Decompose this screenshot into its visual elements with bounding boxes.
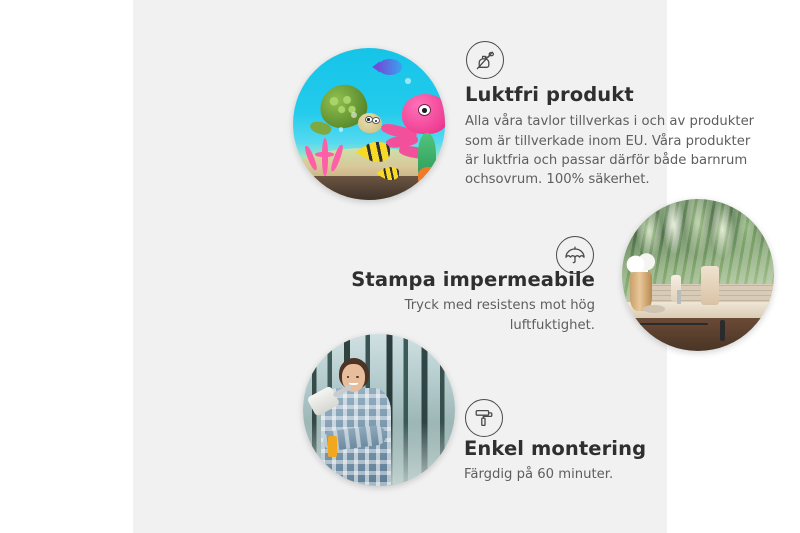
yellow-fish: [363, 142, 390, 162]
feature-block-waterproof: Stampa impermeabile Tryck med resistens …: [333, 268, 595, 335]
painter-scene-art: [303, 334, 455, 486]
feature-body-odour-free: Alla våra tavlor tillverkas i och av pro…: [465, 112, 765, 189]
soap-dish: [643, 305, 664, 313]
faucet: [677, 290, 682, 304]
bathroom-scene-art: [622, 199, 774, 351]
tool-handle: [328, 436, 337, 457]
feature-block-easy-mounting: Enkel montering Färgdig på 60 minuter.: [464, 437, 744, 485]
product-feature-infographic: Luktfri produkt Alla våra tavlor tillver…: [0, 0, 800, 533]
no-fragrance-icon: [466, 41, 504, 79]
feature-block-odour-free: Luktfri produkt Alla våra tavlor tillver…: [465, 83, 765, 189]
blue-fish: [378, 59, 402, 76]
underwater-scene-art: [293, 48, 445, 200]
starfish: [418, 167, 442, 188]
feature-body-easy-mounting: Färgdig på 60 minuter.: [464, 465, 744, 484]
feature-title-waterproof: Stampa impermeabile: [333, 268, 595, 291]
paint-roller-icon: [465, 399, 503, 437]
bubble-icon: [405, 78, 410, 83]
bubble-icon: [339, 127, 344, 132]
feature-title-easy-mounting: Enkel montering: [464, 437, 744, 460]
bathroom-wallpaper-photo[interactable]: [622, 199, 774, 351]
tall-jar: [701, 266, 719, 306]
yellow-fish-small: [381, 167, 399, 181]
painter-person: [312, 355, 400, 486]
feature-body-waterproof: Tryck med resistens mot hög luftfuktighe…: [333, 296, 595, 334]
bubble-icon: [351, 112, 357, 118]
pink-coral: [302, 130, 351, 176]
painter-forest-photo[interactable]: [303, 334, 455, 486]
wooden-vanity-cabinet: [631, 318, 774, 351]
underwater-cartoon-photo[interactable]: [293, 48, 445, 200]
content-panel: Luktfri produkt Alla våra tavlor tillver…: [133, 0, 667, 533]
feature-title-odour-free: Luktfri produkt: [465, 83, 765, 106]
